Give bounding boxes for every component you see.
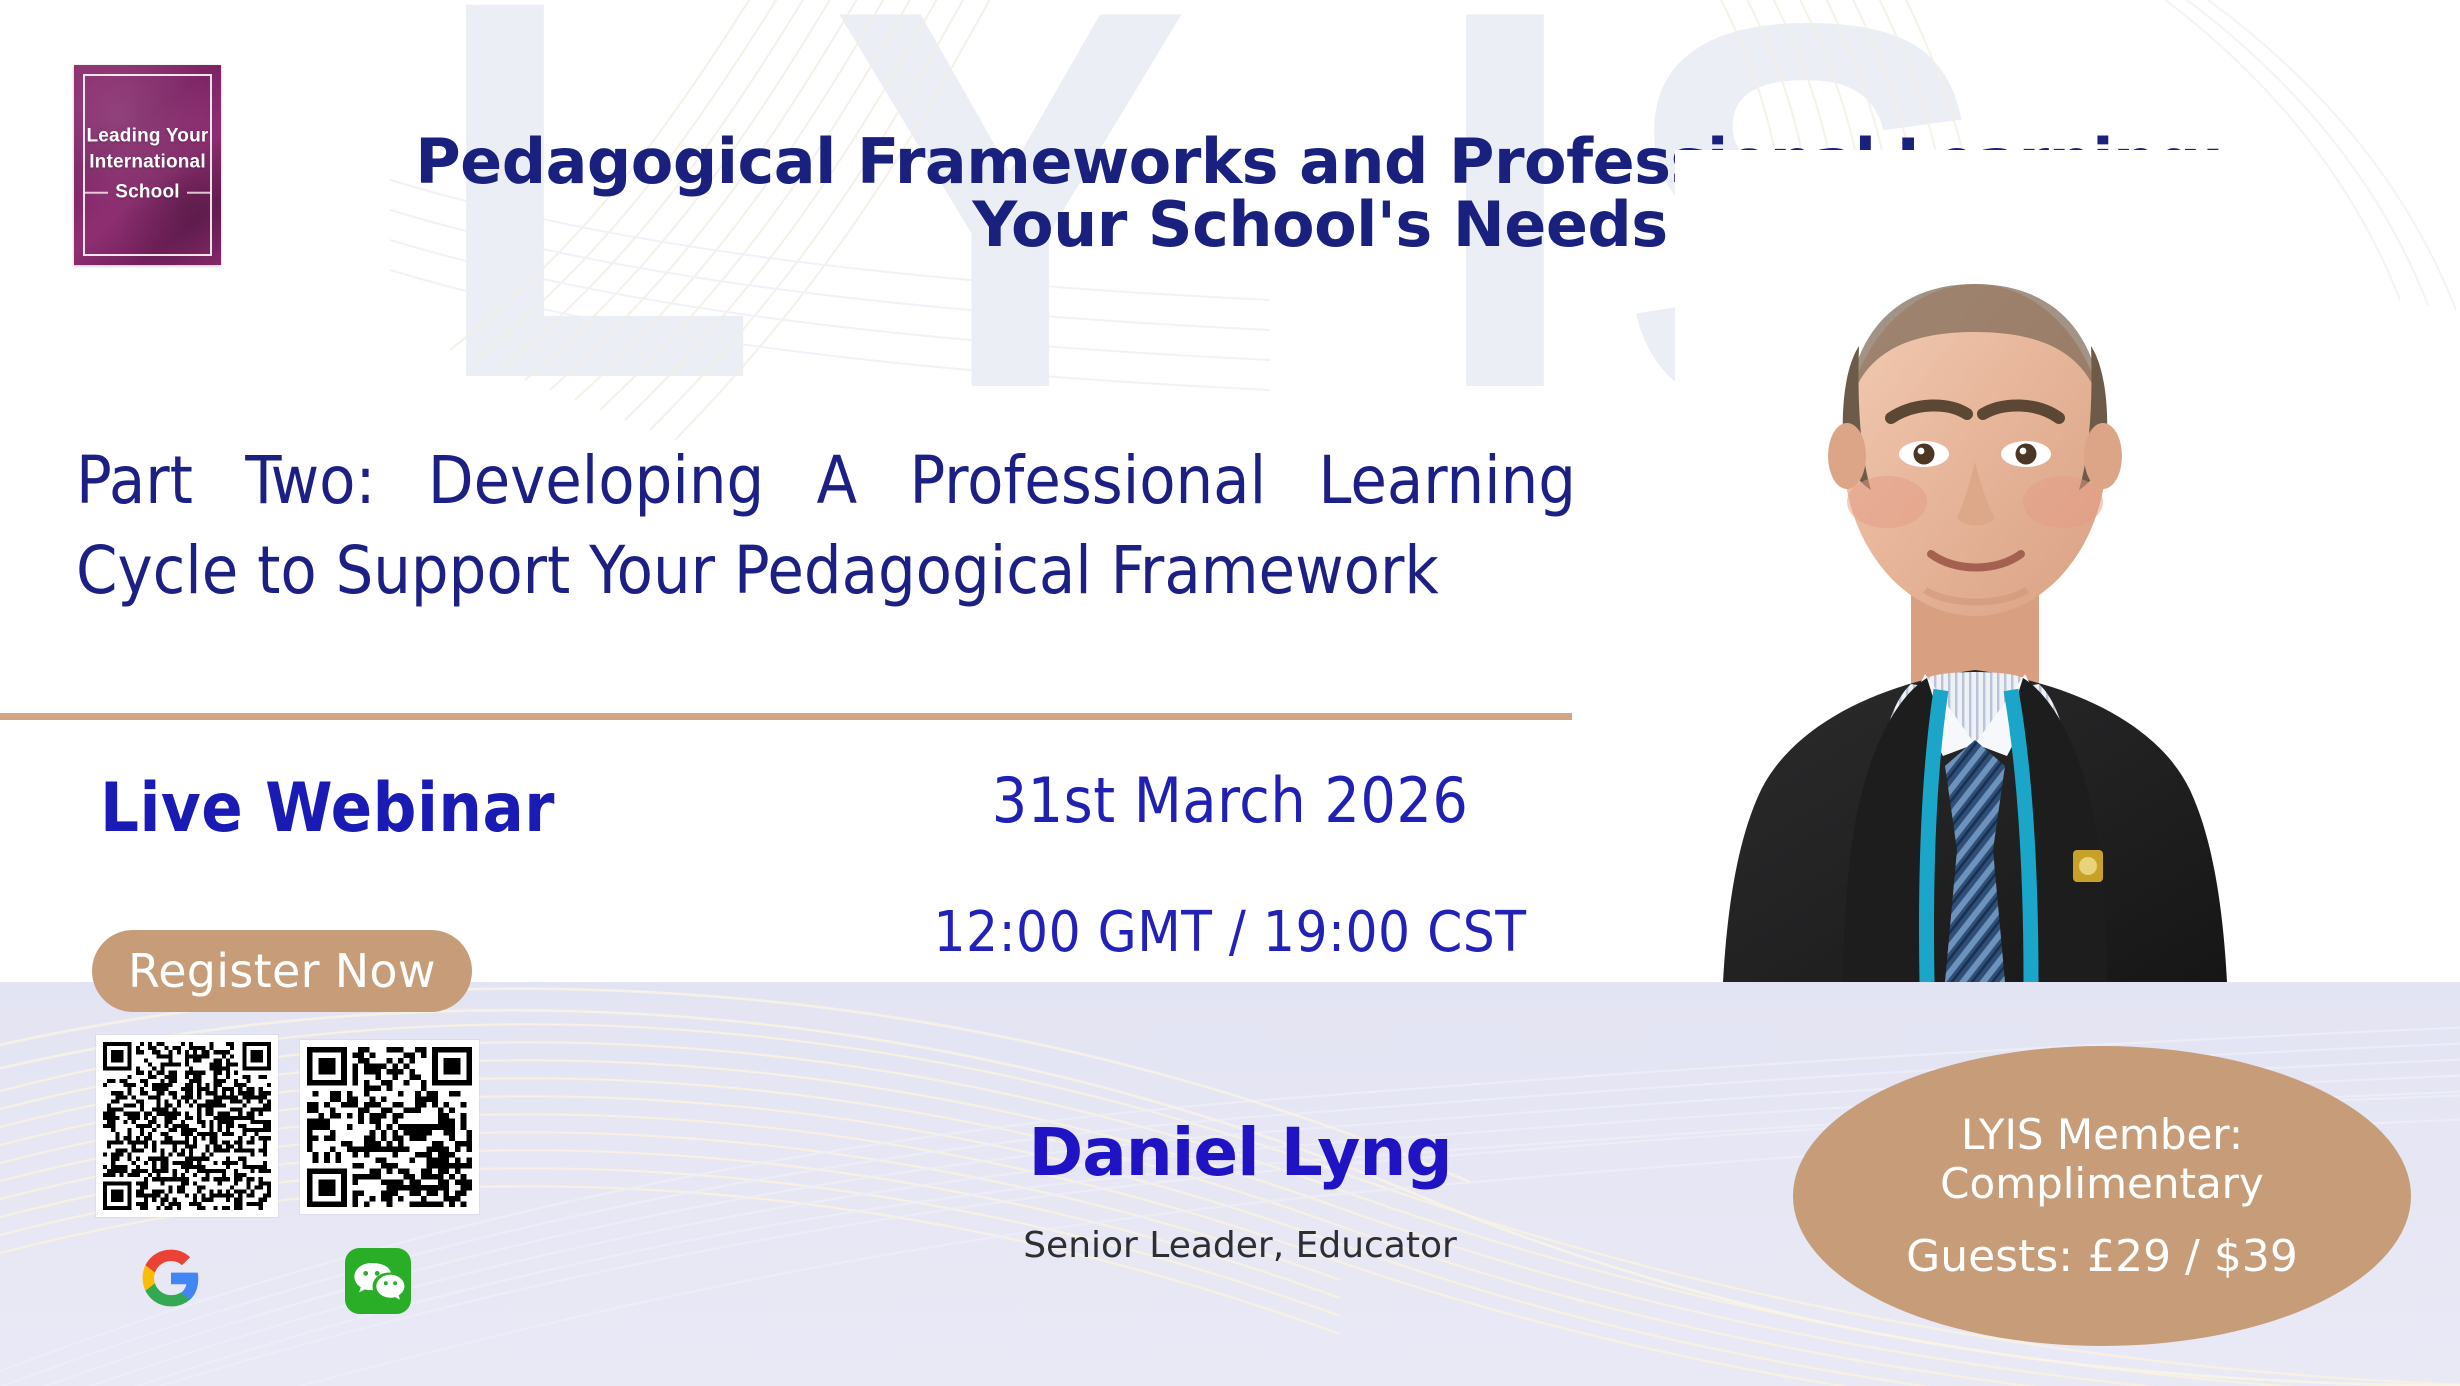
qr-code-wechat[interactable] bbox=[300, 1040, 479, 1214]
pricing-badge: LYIS Member: Complimentary Guests: £29 /… bbox=[1793, 1046, 2411, 1346]
qr-code-icon bbox=[103, 1042, 271, 1210]
lyis-logo: Leading Your International School bbox=[74, 65, 221, 265]
wechat-glyph bbox=[345, 1248, 411, 1314]
google-icon[interactable] bbox=[140, 1247, 202, 1309]
logo-line-3: School bbox=[115, 180, 180, 206]
speaker-role: Senior Leader, Educator bbox=[880, 1228, 1600, 1264]
event-format-label: Live Webinar bbox=[100, 775, 555, 843]
qr-code-icon bbox=[307, 1047, 472, 1207]
pricing-line-2: Complimentary bbox=[1940, 1159, 2264, 1209]
event-date: 31st March 2026 bbox=[880, 770, 1580, 832]
section-divider bbox=[0, 713, 1572, 720]
logo-line-3-wrap: School bbox=[84, 180, 211, 206]
speaker-name: Daniel Lyng bbox=[880, 1120, 1600, 1186]
pricing-line-1: LYIS Member: bbox=[1961, 1110, 2243, 1160]
logo-text: Leading Your International School bbox=[74, 124, 221, 207]
google-g-glyph bbox=[140, 1247, 202, 1309]
register-now-button[interactable]: Register Now bbox=[92, 930, 472, 1012]
webinar-poster: L Y I S bbox=[0, 0, 2460, 1386]
speaker-portrait-illustration bbox=[1675, 150, 2275, 982]
qr-code-google[interactable] bbox=[96, 1035, 278, 1217]
wechat-icon[interactable] bbox=[345, 1248, 411, 1314]
event-time: 12:00 GMT / 19:00 CST bbox=[880, 905, 1580, 961]
logo-line-2: International bbox=[74, 150, 221, 176]
logo-line-1: Leading Your bbox=[74, 124, 221, 150]
logo-rule-right bbox=[187, 192, 211, 194]
session-subtitle: Part Two: Developing A Professional Lear… bbox=[76, 436, 1576, 616]
speaker-photo bbox=[1675, 150, 2275, 982]
logo-rule-left bbox=[84, 192, 108, 194]
pricing-line-3: Guests: £29 / $39 bbox=[1906, 1231, 2298, 1283]
